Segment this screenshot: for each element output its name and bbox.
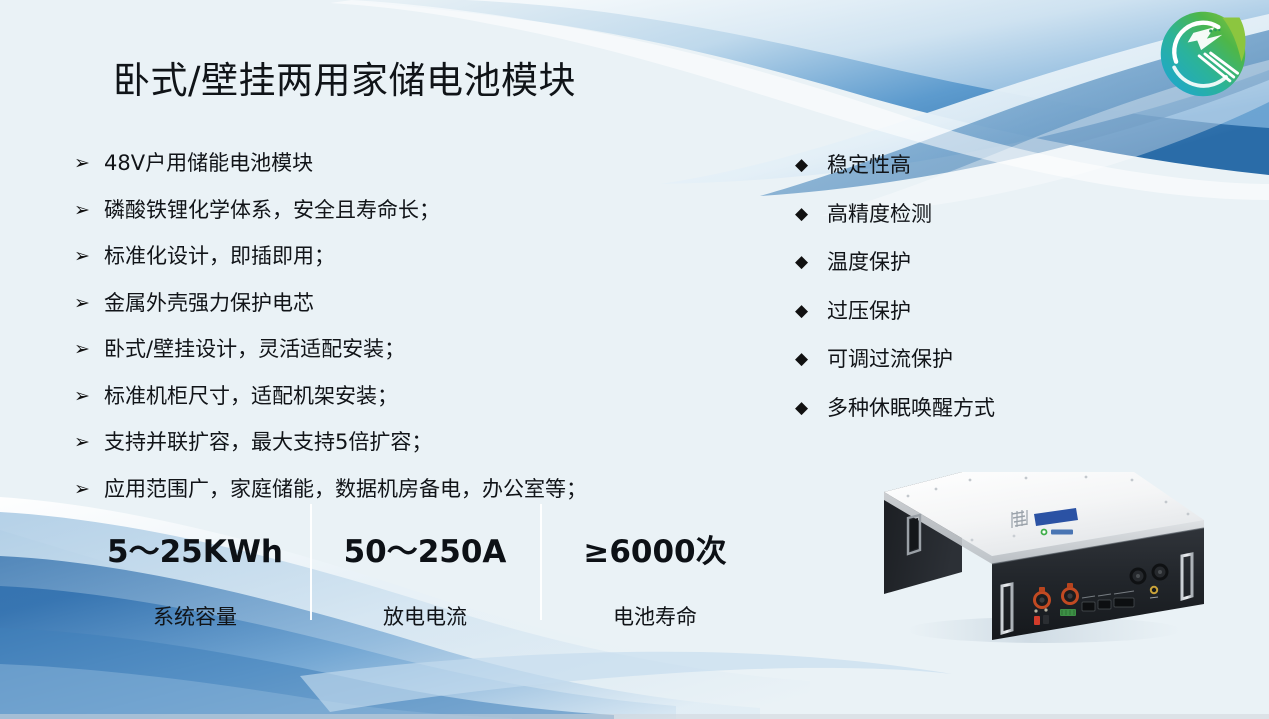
list-item-label: 稳定性高: [827, 152, 911, 178]
stat-label: 放电电流: [383, 601, 467, 631]
features-right-list: ◆ 稳定性高 ◆ 高精度检测 ◆ 温度保护 ◆ 过压保护 ◆ 可调过流保护 ◆ …: [795, 152, 1125, 443]
stat-discharge-current: 50～250A 放电电流: [310, 512, 540, 630]
list-item-label: 多种休眠唤醒方式: [827, 395, 995, 421]
arrow-bullet-icon: ➢: [74, 197, 104, 223]
diamond-bullet-icon: ◆: [795, 298, 827, 324]
diamond-bullet-icon: ◆: [795, 152, 827, 178]
battery-module-photo: [866, 444, 1222, 659]
stat-capacity: 5～25KWh 系统容量: [80, 512, 310, 630]
list-item-label: 过压保护: [827, 298, 911, 324]
list-item: ◆ 稳定性高: [795, 152, 1125, 178]
list-item-label: 48V户用储能电池模块: [104, 150, 313, 176]
diamond-bullet-icon: ◆: [795, 395, 827, 421]
diamond-bullet-icon: ◆: [795, 249, 827, 275]
company-logo: [1155, 6, 1251, 102]
list-item-label: 卧式/壁挂设计，灵活适配安装；: [104, 336, 405, 362]
spec-highlights: 5～25KWh 系统容量 50～250A 放电电流 ≥6000次 电池寿命: [80, 512, 770, 630]
stat-label: 电池寿命: [613, 601, 697, 631]
list-item-label: 磷酸铁锂化学体系，安全且寿命长；: [104, 197, 440, 223]
list-item: ➢ 支持并联扩容，最大支持5倍扩容；: [74, 429, 734, 455]
list-item-label: 金属外壳强力保护电芯: [104, 290, 314, 316]
features-left-list: ➢ 48V户用储能电池模块 ➢ 磷酸铁锂化学体系，安全且寿命长； ➢ 标准化设计…: [74, 150, 734, 522]
stat-cycle-life: ≥6000次 电池寿命: [540, 512, 770, 630]
arrow-bullet-icon: ➢: [74, 383, 104, 409]
list-item-label: 应用范围广，家庭储能，数据机房备电，办公室等；: [104, 476, 587, 502]
list-item-label: 温度保护: [827, 249, 911, 275]
stat-value: 5～25KWh: [107, 526, 283, 571]
list-item: ➢ 卧式/壁挂设计，灵活适配安装；: [74, 336, 734, 362]
arrow-bullet-icon: ➢: [74, 476, 104, 502]
list-item: ◆ 多种休眠唤醒方式: [795, 395, 1125, 421]
list-item: ➢ 应用范围广，家庭储能，数据机房备电，办公室等；: [74, 476, 734, 502]
list-item: ◆ 过压保护: [795, 298, 1125, 324]
list-item: ➢ 48V户用储能电池模块: [74, 150, 734, 176]
list-item-label: 标准化设计，即插即用；: [104, 243, 335, 269]
list-item: ➢ 金属外壳强力保护电芯: [74, 290, 734, 316]
stat-value: ≥6000次: [583, 526, 726, 571]
list-item-label: 支持并联扩容，最大支持5倍扩容；: [104, 429, 432, 455]
list-item: ➢ 标准机柜尺寸，适配机架安装；: [74, 383, 734, 409]
list-item: ➢ 磷酸铁锂化学体系，安全且寿命长；: [74, 197, 734, 223]
list-item-label: 高精度检测: [827, 201, 932, 227]
diamond-bullet-icon: ◆: [795, 201, 827, 227]
arrow-bullet-icon: ➢: [74, 150, 104, 176]
list-item: ◆ 高精度检测: [795, 201, 1125, 227]
arrow-bullet-icon: ➢: [74, 429, 104, 455]
list-item-label: 标准机柜尺寸，适配机架安装；: [104, 383, 398, 409]
arrow-bullet-icon: ➢: [74, 336, 104, 362]
list-item: ◆ 可调过流保护: [795, 346, 1125, 372]
list-item: ➢ 标准化设计，即插即用；: [74, 243, 734, 269]
arrow-bullet-icon: ➢: [74, 290, 104, 316]
stat-value: 50～250A: [344, 526, 507, 571]
arrow-bullet-icon: ➢: [74, 243, 104, 269]
list-item: ◆ 温度保护: [795, 249, 1125, 275]
list-item-label: 可调过流保护: [827, 346, 953, 372]
slide-canvas: 卧式/壁挂两用家储电池模块 ➢ 48V户用储能电池模块 ➢ 磷酸铁锂化学体系，安…: [0, 0, 1269, 719]
stat-label: 系统容量: [153, 601, 237, 631]
page-title: 卧式/壁挂两用家储电池模块: [113, 58, 576, 104]
diamond-bullet-icon: ◆: [795, 346, 827, 372]
